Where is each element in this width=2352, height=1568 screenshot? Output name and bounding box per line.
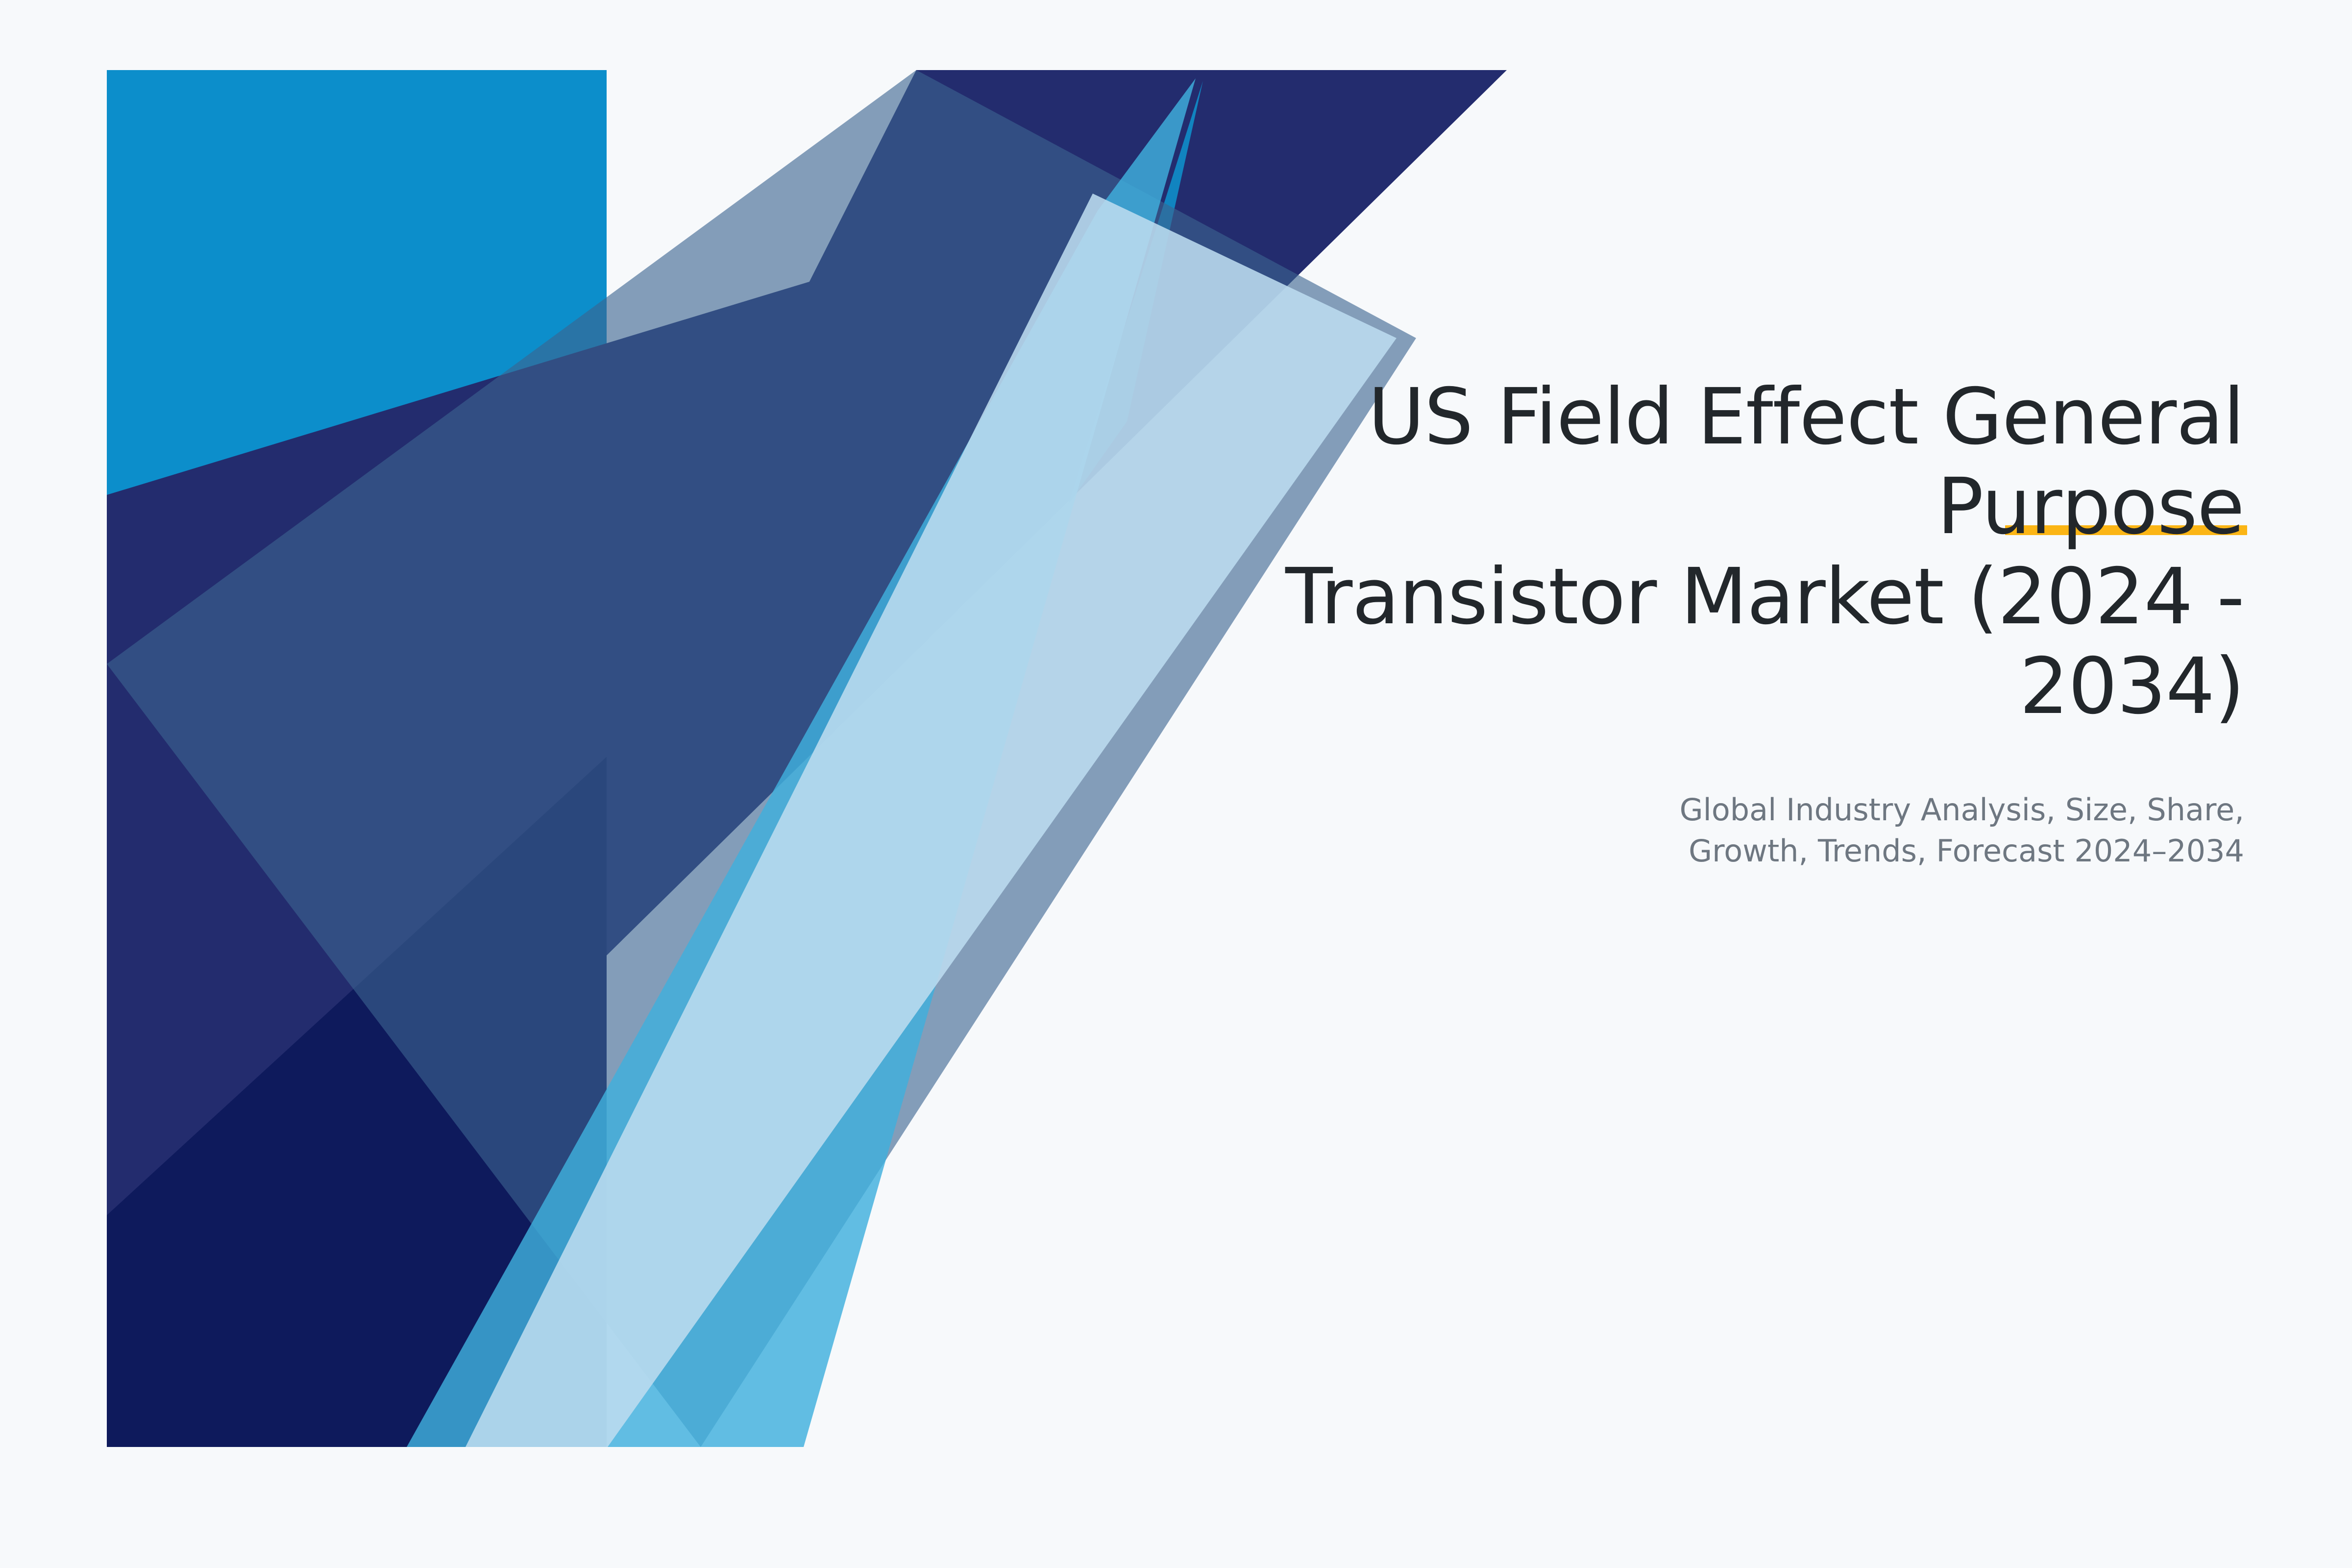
title-wrapper: US Field Effect General Purpose Transist… xyxy=(1068,372,2244,732)
page-subtitle: Global Industry Analysis, Size, Share, G… xyxy=(1068,789,2244,872)
shape-cyan-panel xyxy=(107,70,607,1447)
report-cover-page: US Field Effect General Purpose Transist… xyxy=(0,0,2352,1568)
shape-deep-navy-wedge xyxy=(107,661,710,1447)
cover-text-block: US Field Effect General Purpose Transist… xyxy=(1068,372,2244,872)
artwork-layer-base xyxy=(107,70,607,1447)
page-title: US Field Effect General Purpose Transist… xyxy=(1068,372,2244,732)
artwork-layer-deep-navy xyxy=(107,661,710,1447)
